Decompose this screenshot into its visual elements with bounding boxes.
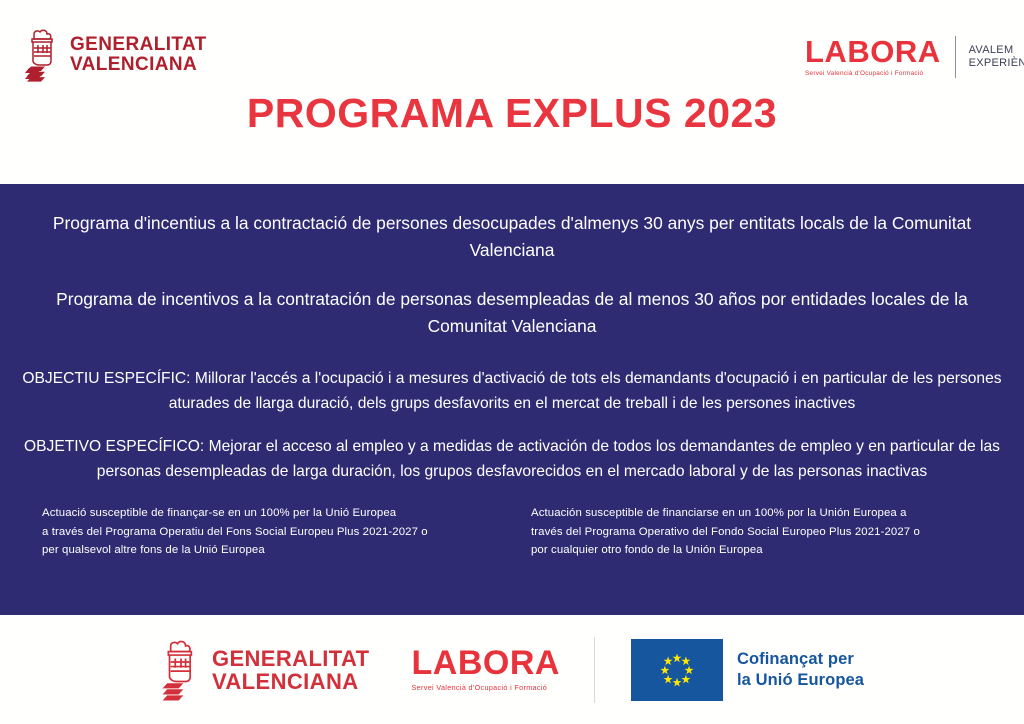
generalitat-valenciana-emblem-icon [25,28,61,82]
funding-valencian-line2: a través del Programa Operatiu del Fons … [42,523,521,542]
labora-subtitle: Servei Valencià d'Ocupació i Formació [412,683,560,693]
funding-spanish-line2: través del Programa Operativo del Fondo … [531,523,1010,542]
specific-objective-valencian: OBJECTIU ESPECÍFIC: Millorar l'accés a l… [17,366,1007,416]
content-panel-inner: Programa d'incentius a la contractació d… [0,184,1024,560]
funding-valencian-line1: Actuació susceptible de finançar-se en u… [42,504,521,523]
footer-labora-logo: LABORA Servei Valencià d'Ocupació i Form… [412,646,560,693]
footer-logo-strip: GENERALITAT VALENCIANA LABORA Servei Val… [160,637,864,703]
eu-cofinancing-text: Cofinançat per la Unió Europea [737,649,864,691]
generalitat-wordmark-line2: VALENCIANA [70,55,207,75]
specific-objective-spanish: OBJETIVO ESPECÍFICO: Mejorar el acceso a… [15,434,1010,484]
funding-spanish-line1: Actuación susceptible de financiarse en … [531,504,1010,523]
page-footer: GENERALITAT VALENCIANA LABORA Servei Val… [0,615,1024,724]
eu-text-line1: Cofinançat per [737,649,864,670]
european-union-flag-icon [631,639,723,701]
content-panel: Programa d'incentius a la contractació d… [0,184,1024,615]
funding-notes-row: Actuació susceptible de finançar-se en u… [14,498,1010,560]
labora-subtitle: Servei Valencià d'Ocupació i Formació [805,69,941,78]
generalitat-wordmark-line2: VALENCIANA [212,670,370,693]
footer-divider [594,637,595,703]
eu-text-line2: la Unió Europea [737,670,864,691]
labora-wordmark: LABORA [412,646,560,680]
page-header: GENERALITAT VALENCIANA LABORA Servei Val… [0,0,1024,184]
funding-valencian-line3: per qualsevol altre fons de la Unió Euro… [42,541,521,560]
labora-wordmark: LABORA [805,36,941,67]
footer-eu-logo: Cofinançat per la Unió Europea [631,639,864,701]
header-generalitat-logo: GENERALITAT VALENCIANA [25,28,207,82]
avalem-experiencia-tagline: AVALEM EXPERIÈNCIA [956,44,1024,70]
poster-page: GENERALITAT VALENCIANA LABORA Servei Val… [0,0,1024,724]
funding-note-valencian: Actuació susceptible de finançar-se en u… [14,504,521,560]
funding-spanish-line3: por cualquier otro fondo de la Unión Eur… [531,541,1010,560]
footer-generalitat-logo: GENERALITAT VALENCIANA [160,639,370,701]
generalitat-valenciana-emblem-icon [160,639,202,701]
generalitat-wordmark: GENERALITAT VALENCIANA [212,647,370,693]
labora-logo-block: LABORA Servei Valencià d'Ocupació i Form… [805,36,955,78]
header-labora-logo: LABORA Servei Valencià d'Ocupació i Form… [805,36,1024,78]
program-description-spanish: Programa de incentivos a la contratación… [20,286,1005,340]
generalitat-wordmark-line1: GENERALITAT [212,647,370,670]
program-description-valencian: Programa d'incentius a la contractació d… [25,210,1000,264]
generalitat-wordmark: GENERALITAT VALENCIANA [70,35,207,75]
page-title: PROGRAMA EXPLUS 2023 [0,90,1024,137]
avalem-line2: EXPERIÈNCIA [969,57,1024,70]
funding-note-spanish: Actuación susceptible de financiarse en … [521,504,1010,560]
avalem-line1: AVALEM [969,44,1024,57]
generalitat-wordmark-line1: GENERALITAT [70,35,207,55]
